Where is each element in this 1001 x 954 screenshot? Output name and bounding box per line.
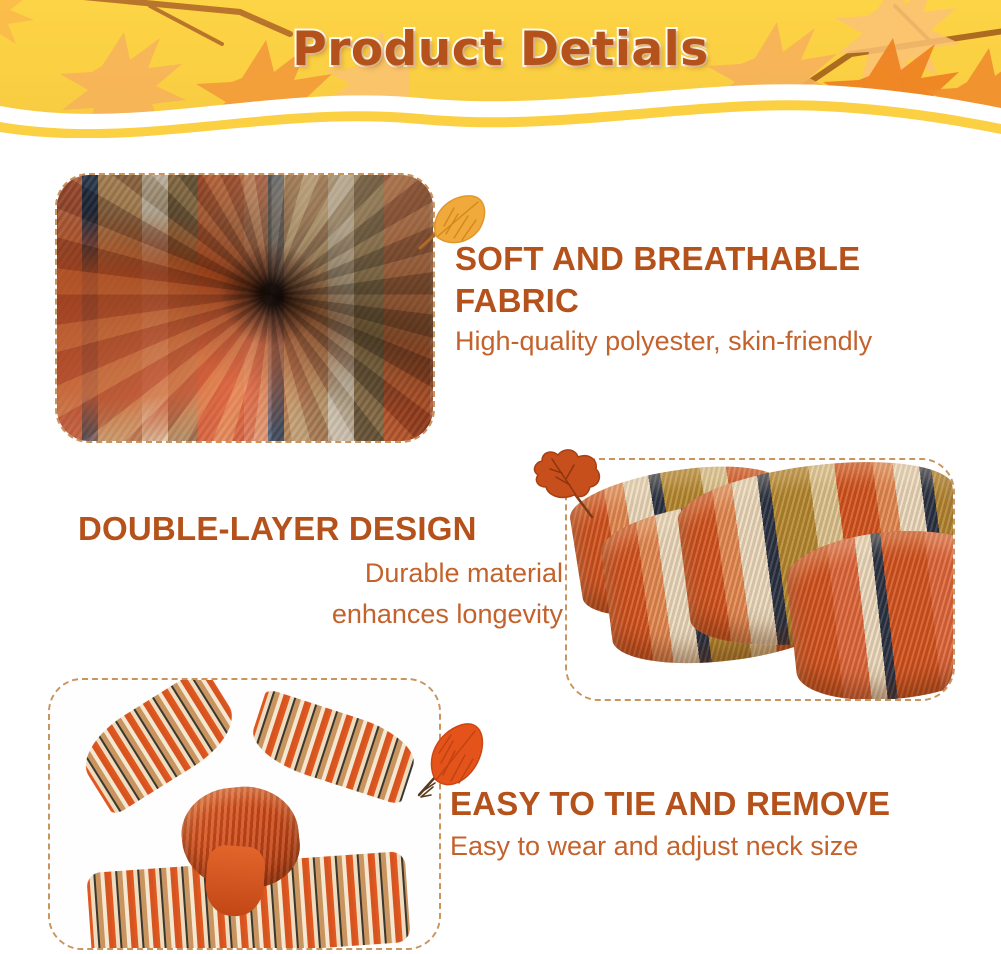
photo-inner-2	[567, 460, 953, 699]
feature-block-double-layer-design: DOUBLE-LAYER DESIGN Durable material enh…	[78, 508, 563, 632]
feature-body-2-line-1: Durable material	[78, 556, 563, 591]
feature-heading-3: EASY TO TIE AND REMOVE	[450, 783, 995, 825]
oak-leaf-icon	[530, 449, 604, 521]
feature-body-2-line-2: enhances longevity	[78, 597, 563, 632]
feature-photo-double-layer-design	[565, 458, 955, 701]
features-content: SOFT AND BREATHABLE FABRIC High-quality …	[0, 138, 1001, 954]
birch-leaf-icon	[418, 192, 488, 254]
page-header-banner: Product Detials	[0, 0, 1001, 138]
plaid-texture-2	[567, 460, 953, 699]
feature-body-1: High-quality polyester, skin-friendly	[455, 324, 975, 359]
page-title: Product Detials	[292, 22, 708, 77]
maple-leaf-icon	[417, 723, 489, 801]
feature-body-3: Easy to wear and adjust neck size	[450, 829, 995, 864]
feature-block-easy-to-tie-and-remove: EASY TO TIE AND REMOVE Easy to wear and …	[450, 783, 995, 864]
photo-inner-1	[57, 175, 433, 441]
page-title-container: Product Detials	[0, 22, 1001, 77]
photo-inner-3	[50, 680, 439, 948]
feature-heading-2: DOUBLE-LAYER DESIGN	[78, 508, 563, 550]
wave-divider-icon	[0, 76, 1001, 138]
feature-photo-soft-and-breathable-fabric	[55, 173, 435, 443]
swirl-folds-1	[57, 175, 433, 441]
feature-photo-easy-to-tie-and-remove	[48, 678, 441, 950]
feature-block-soft-and-breathable-fabric: SOFT AND BREATHABLE FABRIC High-quality …	[455, 238, 975, 360]
feature-heading-1: SOFT AND BREATHABLE FABRIC	[455, 238, 975, 322]
